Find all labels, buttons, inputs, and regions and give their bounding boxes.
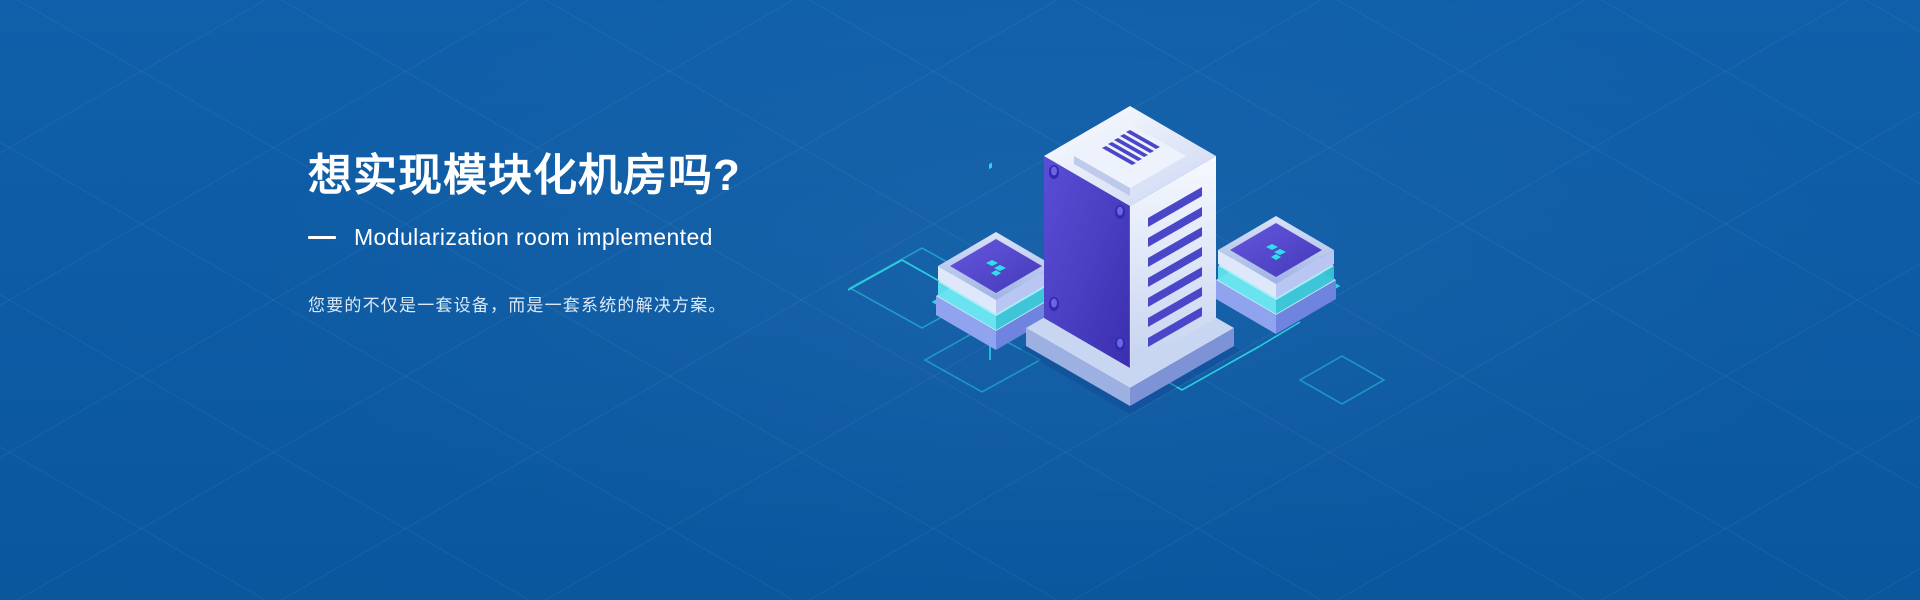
isometric-server-illustration xyxy=(830,60,1390,420)
chip-module-right xyxy=(1214,216,1338,334)
dash-icon xyxy=(308,236,336,239)
hero-banner: 想实现模块化机房吗? Modularization room implement… xyxy=(0,0,1920,600)
banner-subheadline: Modularization room implemented xyxy=(354,224,713,251)
server-tower xyxy=(1026,106,1234,406)
